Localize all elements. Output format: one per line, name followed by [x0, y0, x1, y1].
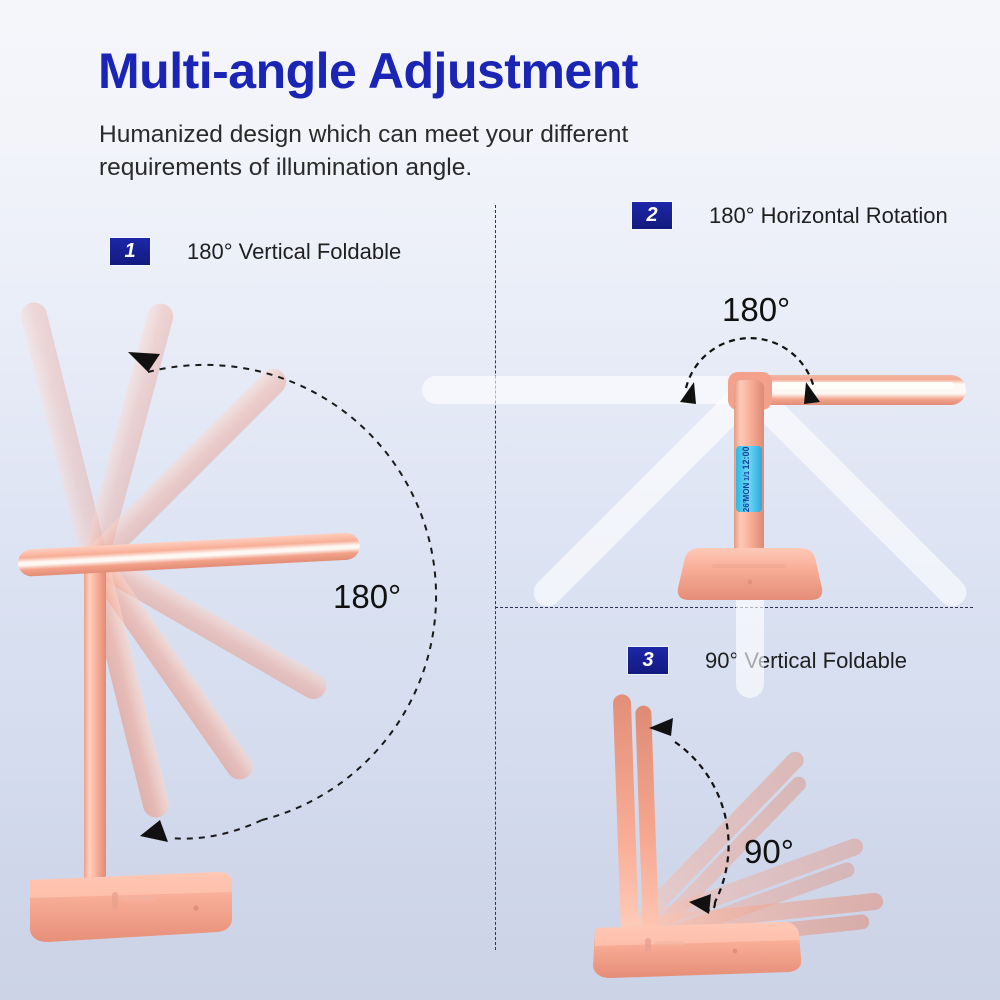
- panel-2-illustration: 12:00 1/1 MON 26°: [560, 230, 980, 610]
- lcd-temp: 26°: [742, 500, 751, 512]
- badge-number-2: 2: [632, 202, 672, 229]
- lcd-time: 12:00: [741, 446, 751, 469]
- panel-1-base: [30, 872, 232, 942]
- badge-number-1: 1: [110, 238, 150, 265]
- panel-2-lcd-display: 12:00 1/1 MON 26°: [736, 446, 762, 512]
- panel-1-illustration: [0, 280, 480, 960]
- lcd-date: 1/1: [744, 471, 751, 481]
- panel-3-base: [593, 922, 801, 978]
- infographic-page: Multi-angle Adjustment Humanized design …: [0, 0, 1000, 1000]
- panel-2-angle-value: 180°: [722, 291, 790, 329]
- page-subtitle: Humanized design which can meet your dif…: [99, 118, 759, 184]
- panel-2-base: [678, 548, 823, 600]
- panel-1-label: 180° Vertical Foldable: [187, 239, 401, 265]
- panel-1-post: [84, 552, 106, 892]
- panel-3-folded-arm: [613, 693, 660, 942]
- panel-3-illustration: [575, 670, 975, 990]
- panel-2-lamp-head: [748, 375, 966, 405]
- panel-1-header: 1 180° Vertical Foldable: [110, 238, 401, 265]
- panel-2-label: 180° Horizontal Rotation: [709, 203, 948, 229]
- panel-2-header: 2 180° Horizontal Rotation: [632, 202, 948, 229]
- vertical-divider: [495, 205, 496, 950]
- panel-3-rotation-arc: [649, 718, 729, 914]
- panel-3-angle-value: 90°: [744, 833, 794, 871]
- page-title: Multi-angle Adjustment: [98, 42, 638, 100]
- panel-1-lamp-head: [17, 532, 360, 577]
- lcd-day: MON: [742, 482, 751, 501]
- panel-1-angle-value: 180°: [333, 578, 401, 616]
